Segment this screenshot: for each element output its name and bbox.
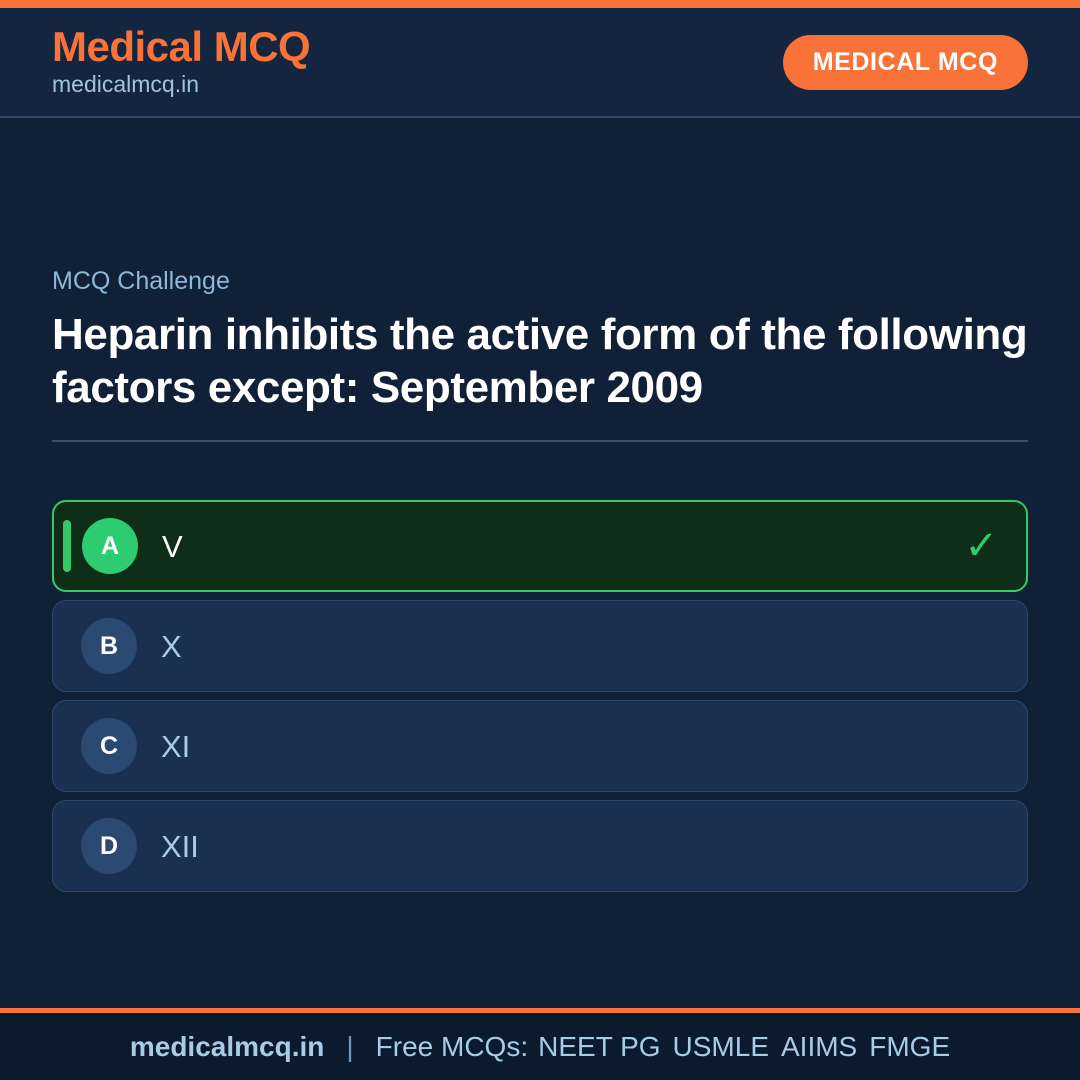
question-block: MCQ Challenge Heparin inhibits the activ…: [52, 266, 1028, 442]
page-footer: medicalmcq.in | Free MCQs: NEET PGUSMLEA…: [0, 1008, 1080, 1080]
correct-accent-bar: [63, 520, 71, 572]
footer-label: Free MCQs:: [376, 1031, 528, 1063]
option-letter-badge: D: [81, 818, 137, 874]
brand: Medical MCQ medicalmcq.in: [52, 25, 310, 99]
main-content: MCQ Challenge Heparin inhibits the activ…: [0, 118, 1080, 1008]
footer-site[interactable]: medicalmcq.in: [130, 1031, 325, 1063]
check-icon: ✓: [964, 526, 998, 566]
brand-subtitle: medicalmcq.in: [52, 70, 310, 99]
option-letter-badge: C: [81, 718, 137, 774]
option-b[interactable]: BX: [52, 600, 1028, 692]
option-text: XI: [161, 731, 190, 762]
footer-separator: |: [346, 1031, 353, 1063]
option-text: V: [162, 531, 183, 562]
footer-exam-link[interactable]: NEET PG: [538, 1031, 660, 1062]
option-c[interactable]: CXI: [52, 700, 1028, 792]
option-text: XII: [161, 831, 199, 862]
option-a[interactable]: AV✓: [52, 500, 1028, 592]
option-d[interactable]: DXII: [52, 800, 1028, 892]
footer-exam-link[interactable]: FMGE: [869, 1031, 950, 1062]
footer-exam-link[interactable]: USMLE: [673, 1031, 769, 1062]
header-badge: MEDICAL MCQ: [783, 35, 1028, 90]
options-list: AV✓BXCXIDXII: [52, 500, 1028, 892]
top-accent-bar: [0, 0, 1080, 8]
question-text: Heparin inhibits the active form of the …: [52, 308, 1028, 414]
footer-exams: NEET PGUSMLEAIIMSFMGE: [538, 1031, 950, 1063]
question-divider: [52, 440, 1028, 442]
option-letter-badge: B: [81, 618, 137, 674]
option-letter-badge: A: [82, 518, 138, 574]
mcq-card: Medical MCQ medicalmcq.in MEDICAL MCQ MC…: [0, 0, 1080, 1080]
question-kicker: MCQ Challenge: [52, 266, 1028, 296]
option-text: X: [161, 631, 182, 662]
page-header: Medical MCQ medicalmcq.in MEDICAL MCQ: [0, 8, 1080, 118]
brand-title: Medical MCQ: [52, 25, 310, 69]
footer-text: medicalmcq.in | Free MCQs: NEET PGUSMLEA…: [130, 1031, 950, 1063]
footer-exam-link[interactable]: AIIMS: [781, 1031, 857, 1062]
